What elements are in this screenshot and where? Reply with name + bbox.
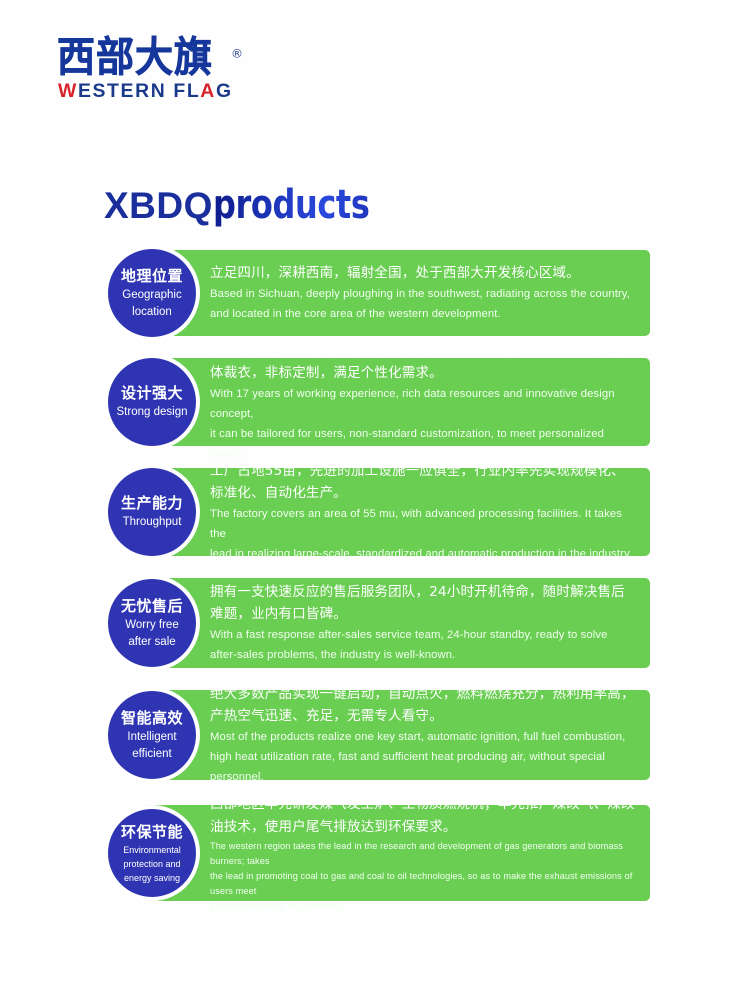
feature-text: 绝大多数产品实现一键启动，自动点火，燃料燃烧充分，热利用率高， 产热空气迅速、充… — [210, 690, 636, 780]
page-title: XBDQproducts — [104, 182, 409, 237]
feature-text: 17年从业经验，具备丰富的数据资源和开创性的设计理念可为用户量 体裁衣，非标定制… — [210, 358, 636, 446]
feature-badge-worry-free-after-sale[interactable]: 无忧售后 Worry free after sale — [108, 579, 196, 667]
badge-english-line-1: Geographic — [122, 288, 181, 303]
feature-cn-line-2: 难题，业内有口皆碑。 — [210, 603, 636, 625]
badge-english-line-1: Worry free — [125, 618, 178, 633]
feature-badge-intelligent-efficient[interactable]: 智能高效 Intelligent efficient — [108, 691, 196, 779]
feature-cn-line-1: 西部地区率先研发煤气发生炉、生物质燃烧机；率先推广煤改气、煤改 — [210, 793, 636, 816]
badge-english-line-2: after sale — [128, 635, 175, 650]
feature-en-line-2: the lead in promoting coal to gas and co… — [210, 869, 636, 899]
page-title-word: products — [213, 182, 369, 228]
feature-text: 立足四川，深耕西南，辐射全国，处于西部大开发核心区域。 Based in Sic… — [210, 250, 636, 336]
feature-text: 工厂占地55亩，先进的加工设施一应俱全，行业内率先实现规模化、 标准化、自动化生… — [210, 468, 636, 556]
product-advantages-page: 西部大旗 ® WESTERN FLAG XBDQproducts 地理位置 Ge… — [0, 0, 750, 998]
badge-english-line-1: Intelligent — [127, 730, 176, 745]
logo-english-mid: ESTERN FL — [78, 81, 200, 102]
badge-chinese-label: 生产能力 — [121, 494, 183, 513]
feature-en-line-1: Based in Sichuan, deeply ploughing in th… — [210, 284, 636, 304]
feature-row-geographic-location[interactable]: 地理位置 Geographic location 立足四川，深耕西南，辐射全国，… — [104, 250, 650, 336]
feature-en-line-2: high heat utilization rate, fast and suf… — [210, 747, 636, 787]
logo-english-suffix: G — [216, 81, 233, 102]
feature-cn-line-2: 油技术，使用户尾气排放达到环保要求。 — [210, 816, 636, 839]
page-title-abbrev: XBDQ — [104, 185, 213, 226]
feature-row-strong-design[interactable]: 设计强大 Strong design 17年从业经验，具备丰富的数据资源和开创性… — [104, 358, 650, 446]
badge-chinese-label: 无忧售后 — [121, 597, 183, 616]
feature-text: 拥有一支快速反应的售后服务团队，24小时开机待命，随时解决售后 难题，业内有口皆… — [210, 578, 636, 668]
feature-cn-line-1: 工厂占地55亩，先进的加工设施一应俱全，行业内率先实现规模化、 — [210, 460, 636, 482]
badge-english-line-2: location — [132, 305, 172, 320]
badge-english-line-2: efficient — [132, 747, 171, 762]
feature-cn-line-1: 绝大多数产品实现一键启动，自动点火，燃料燃烧充分，热利用率高， — [210, 683, 636, 705]
badge-english-line-1: Throughput — [123, 515, 182, 530]
badge-chinese-label: 设计强大 — [121, 384, 183, 403]
feature-badge-throughput[interactable]: 生产能力 Throughput — [108, 468, 196, 556]
feature-badge-geographic-location[interactable]: 地理位置 Geographic location — [108, 249, 196, 337]
logo-english-w: W — [58, 81, 78, 102]
feature-en-line-1: With a fast response after-sales service… — [210, 625, 636, 645]
feature-en-line-1: With 17 years of working experience, ric… — [210, 384, 636, 424]
badge-english-line-2: protection and — [123, 858, 180, 870]
feature-badge-environmental-protection[interactable]: 环保节能 Environmental protection and energy… — [108, 809, 196, 897]
badge-chinese-label: 环保节能 — [121, 823, 183, 842]
logo-english-name: WESTERN FLAG — [58, 81, 233, 103]
badge-english-line-1: Strong design — [117, 405, 188, 420]
feature-en-line-3: the environmental requirements. — [210, 899, 636, 914]
feature-row-throughput[interactable]: 生产能力 Throughput 工厂占地55亩，先进的加工设施一应俱全，行业内率… — [104, 468, 650, 556]
feature-en-line-2: it can be tailored for users, non-standa… — [210, 424, 636, 464]
feature-en-line-1: The factory covers an area of 55 mu, wit… — [210, 504, 636, 544]
logo-english-a: A — [200, 81, 216, 102]
badge-english-line-1: Environmental — [123, 844, 181, 856]
feature-row-worry-free-after-sale[interactable]: 无忧售后 Worry free after sale 拥有一支快速反应的售后服务… — [104, 578, 650, 668]
feature-cn-line-1: 17年从业经验，具备丰富的数据资源和开创性的设计理念可为用户量 — [210, 340, 636, 362]
logo-chinese-name: 西部大旗 ® — [57, 33, 327, 81]
feature-en-line-2: lead in realizing large-scale, standardi… — [210, 544, 636, 564]
feature-row-intelligent-efficient[interactable]: 智能高效 Intelligent efficient 绝大多数产品实现一键启动，… — [104, 690, 650, 780]
feature-badge-strong-design[interactable]: 设计强大 Strong design — [108, 358, 196, 446]
feature-text: 西部地区率先研发煤气发生炉、生物质燃烧机；率先推广煤改气、煤改 油技术，使用户尾… — [210, 805, 636, 901]
feature-row-environmental-protection[interactable]: 环保节能 Environmental protection and energy… — [104, 805, 650, 901]
badge-english-line-3: energy saving — [124, 872, 180, 884]
logo-chinese-text: 西部大旗 — [57, 33, 213, 81]
badge-chinese-label: 智能高效 — [121, 709, 183, 728]
badge-chinese-label: 地理位置 — [121, 267, 183, 286]
feature-en-line-2: and located in the core area of the west… — [210, 304, 636, 324]
feature-en-line-2: after-sales problems, the industry is we… — [210, 645, 636, 665]
feature-cn-line-2: 体裁衣，非标定制，满足个性化需求。 — [210, 362, 636, 384]
feature-cn-line-2: 产热空气迅速、充足，无需专人看守。 — [210, 705, 636, 727]
feature-cn-line-1: 拥有一支快速反应的售后服务团队，24小时开机待命，随时解决售后 — [210, 581, 636, 603]
company-logo: 西部大旗 ® WESTERN FLAG — [57, 33, 327, 113]
registered-trademark-icon: ® — [231, 32, 244, 76]
feature-cn-line-1: 立足四川，深耕西南，辐射全国，处于西部大开发核心区域。 — [210, 262, 636, 284]
feature-en-line-1: Most of the products realize one key sta… — [210, 727, 636, 747]
feature-cn-line-2: 标准化、自动化生产。 — [210, 482, 636, 504]
feature-en-line-1: The western region takes the lead in the… — [210, 839, 636, 869]
